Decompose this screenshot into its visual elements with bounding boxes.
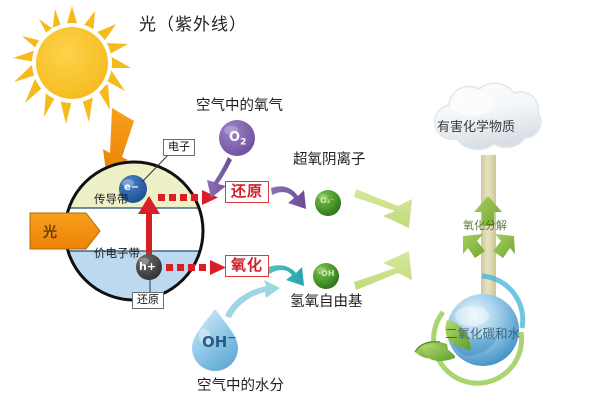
water-droplet-icon xyxy=(192,309,238,371)
label-oxidative-decomposition: 氧化分解 xyxy=(463,217,507,233)
label-co2-and-water: 二氧化碳和水 xyxy=(445,323,520,342)
label-conduction-band: 传导带 xyxy=(94,191,129,207)
label-valence-band: 价电子带 xyxy=(94,245,140,261)
badge-oxidation: 氧化 xyxy=(225,255,269,277)
callout-reduction-bottom: 还原 xyxy=(132,292,164,309)
label-hydroxyl-radical: 氢氧自由基 xyxy=(290,290,363,311)
label-moisture-in-air: 空气中的水分 xyxy=(197,374,284,395)
oxygen-molecule-icon xyxy=(219,120,255,156)
diagram-canvas: 光（紫外线） 空气中的氧气 超氧阴离子 氢氧自由基 空气中的水分 有害化学物质 … xyxy=(0,0,600,402)
superoxide-anion-icon xyxy=(315,190,341,216)
light-input-arrow xyxy=(30,213,100,249)
label-superoxide-anion: 超氧阴离子 xyxy=(293,148,366,169)
label-harmful-chemicals: 有害化学物质 xyxy=(437,116,515,135)
reduction-to-superoxide-arrow xyxy=(271,186,306,209)
badge-reduction: 还原 xyxy=(225,181,269,203)
label-light-arrow: 光 xyxy=(43,222,57,242)
hydroxyl-radical-icon xyxy=(313,263,339,289)
page-title: 光（紫外线） xyxy=(139,10,247,35)
water-to-oxidation-curve xyxy=(225,280,280,318)
sun-icon xyxy=(13,6,131,124)
label-oxygen-in-air: 空气中的氧气 xyxy=(196,94,283,115)
oxidation-to-hydroxyl-arrow xyxy=(268,265,304,286)
callout-electron: 电子 xyxy=(163,139,195,156)
converging-arrows xyxy=(354,189,412,290)
